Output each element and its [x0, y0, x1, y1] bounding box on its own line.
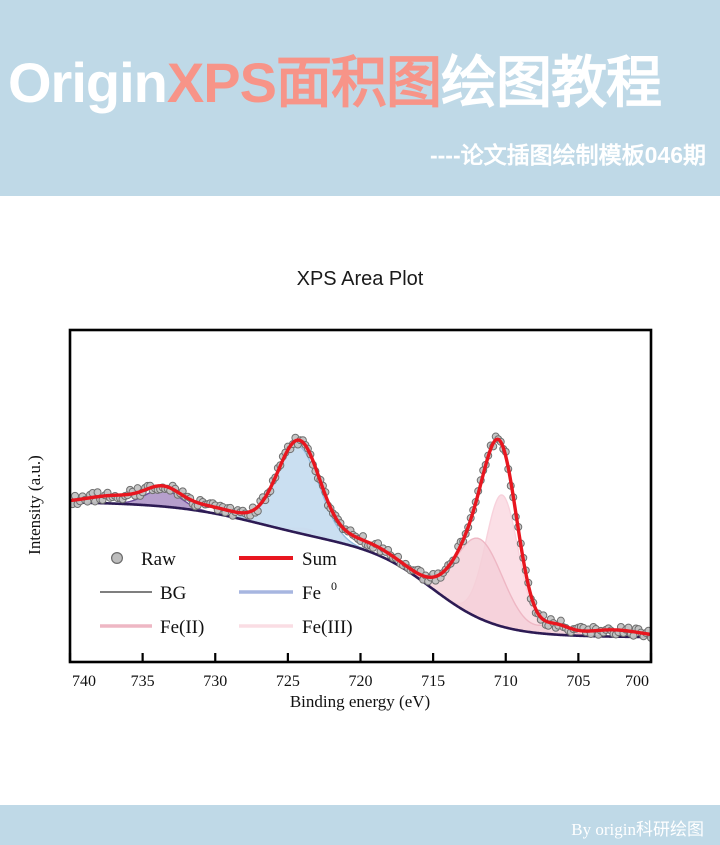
- x-tick-label: 700: [625, 673, 649, 690]
- x-tick-label: 725: [276, 673, 300, 690]
- x-axis-ticks: [70, 653, 651, 662]
- footer-band: By origin科研绘图: [0, 805, 720, 845]
- x-tick-label: 740: [72, 673, 96, 690]
- x-tick-label: 735: [131, 673, 155, 690]
- footer-watermark: By origin科研绘图: [571, 815, 704, 840]
- scatter-raw-data: [67, 433, 655, 641]
- legend-label-bg: BG: [160, 583, 187, 604]
- banner-title-part-3: 绘图教程: [441, 51, 661, 114]
- banner-title-part-2: XPS面积图: [167, 51, 441, 114]
- banner-title-part-1: Origin: [8, 51, 167, 114]
- banner-subtitle: ----论文插图绘制模板046期: [430, 136, 706, 170]
- x-tick-label: 720: [349, 673, 373, 690]
- xps-plot: 740735730725720715710705700 Raw Sum BG F…: [0, 196, 720, 805]
- x-axis-tick-labels: 740735730725720715710705700: [72, 673, 649, 690]
- x-tick-label: 730: [203, 673, 227, 690]
- legend-label-fe0: Fe: [302, 583, 321, 604]
- banner-title: OriginXPS面积图绘图教程: [8, 52, 720, 114]
- chart-legend: Raw Sum BG Fe 0 Fe(II) Fe(III): [100, 549, 353, 638]
- x-tick-label: 705: [566, 673, 590, 690]
- header-banner: OriginXPS面积图绘图教程 ----论文插图绘制模板046期: [0, 0, 720, 196]
- legend-label-sum: Sum: [302, 549, 337, 570]
- plot-curves: [67, 433, 655, 641]
- figure-container: XPS Area Plot Intensity (a.u.) Binding e…: [0, 196, 720, 805]
- x-tick-label: 715: [421, 673, 445, 690]
- legend-marker-raw: [112, 553, 123, 564]
- x-tick-label: 710: [494, 673, 518, 690]
- legend-label-fe2: Fe(II): [160, 617, 204, 638]
- raw-data-point: [94, 489, 101, 496]
- legend-label-fe3: Fe(III): [302, 617, 353, 638]
- legend-label-fe0-superscript: 0: [331, 579, 337, 593]
- legend-label-raw: Raw: [141, 549, 176, 570]
